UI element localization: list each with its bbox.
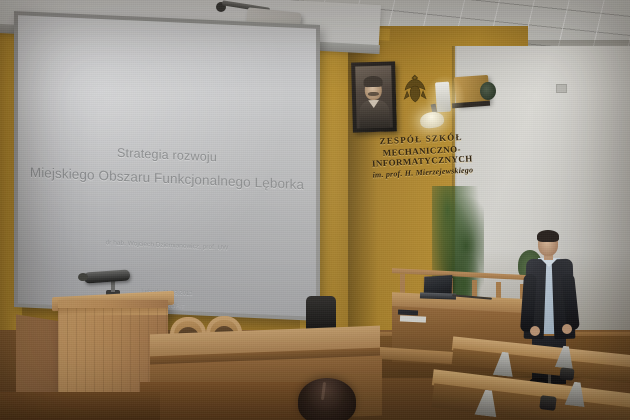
portrait-hair (363, 76, 382, 87)
presenter-hand-right (562, 324, 572, 334)
wall-lamp (435, 82, 451, 113)
presenter-hair (537, 230, 559, 242)
portrait-moustache (368, 92, 379, 96)
bench-seat-cylinder (539, 395, 557, 411)
microphone-stem (111, 280, 115, 292)
laptop-keyboard[interactable] (420, 292, 456, 299)
wall-vent (556, 84, 567, 93)
projection-screen: Strategia rozwoju Miejskiego Obszaru Fun… (18, 15, 316, 317)
presenter-hand-left (530, 326, 540, 336)
desk-papers (400, 315, 426, 322)
speaker-cone-icon (480, 82, 496, 100)
foreground-audience-head (298, 378, 356, 420)
foreground-bench-left (0, 392, 160, 420)
bench-seat-cylinder (559, 367, 574, 380)
wall-sign: ZESPÓŁ SZKÓŁ MECHANICZNO-INFORMATYCZNYCH… (351, 130, 493, 180)
lecture-hall-photo: Strategia rozwoju Miejskiego Obszaru Fun… (0, 0, 630, 420)
portrait-image (355, 66, 393, 129)
